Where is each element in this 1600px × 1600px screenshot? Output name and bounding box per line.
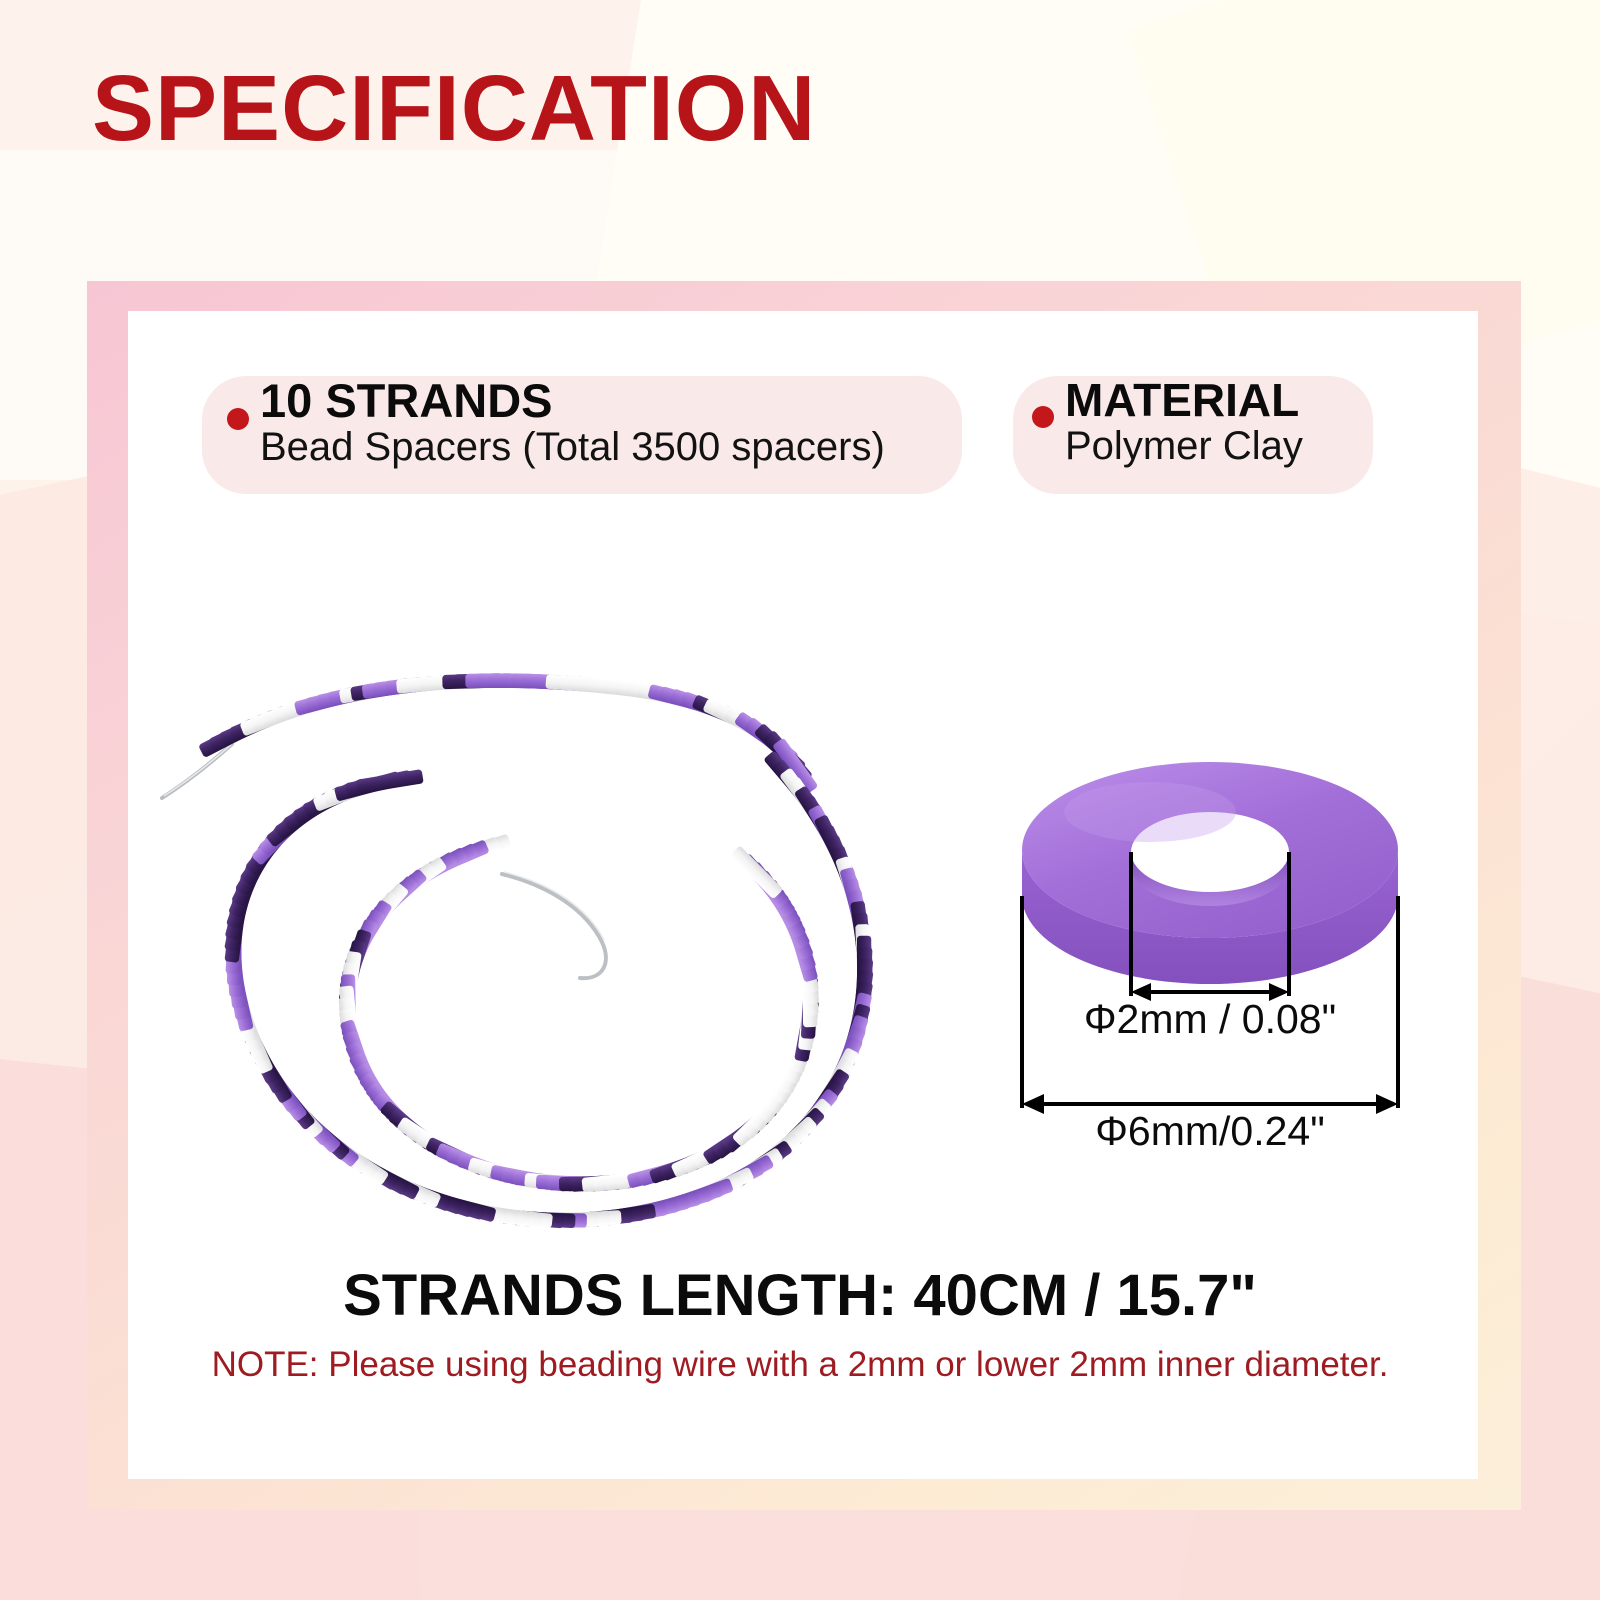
spec-material-subtext: Polymer Clay — [1065, 424, 1303, 468]
bead-dimension-figure: Φ2mm / 0.08" Φ6mm/0.24" — [1000, 700, 1420, 1170]
spec-material-pill: MATERIAL Polymer Clay — [1013, 376, 1373, 494]
outer-diameter-label: Φ6mm/0.24" — [1000, 1108, 1420, 1155]
note-text: NOTE: Please using beading wire with a 2… — [0, 1345, 1600, 1385]
red-dot-icon — [1032, 406, 1054, 428]
red-dot-icon — [227, 408, 249, 430]
product-photo — [150, 620, 940, 1260]
strands-length-text: STRANDS LENGTH: 40CM / 15.7" — [0, 1262, 1600, 1329]
inner-diameter-label: Φ2mm / 0.08" — [1000, 996, 1420, 1043]
spec-quantity-subtext: Bead Spacers (Total 3500 spacers) — [260, 425, 885, 469]
spec-material-heading: MATERIAL — [1065, 374, 1299, 426]
specification-infographic: SPECIFICATION 10 STRANDS Bead Spacers (T… — [0, 0, 1600, 1600]
spec-quantity-pill: 10 STRANDS Bead Spacers (Total 3500 spac… — [202, 376, 962, 494]
spec-quantity-heading: 10 STRANDS — [260, 374, 553, 427]
page-title: SPECIFICATION — [92, 62, 816, 155]
